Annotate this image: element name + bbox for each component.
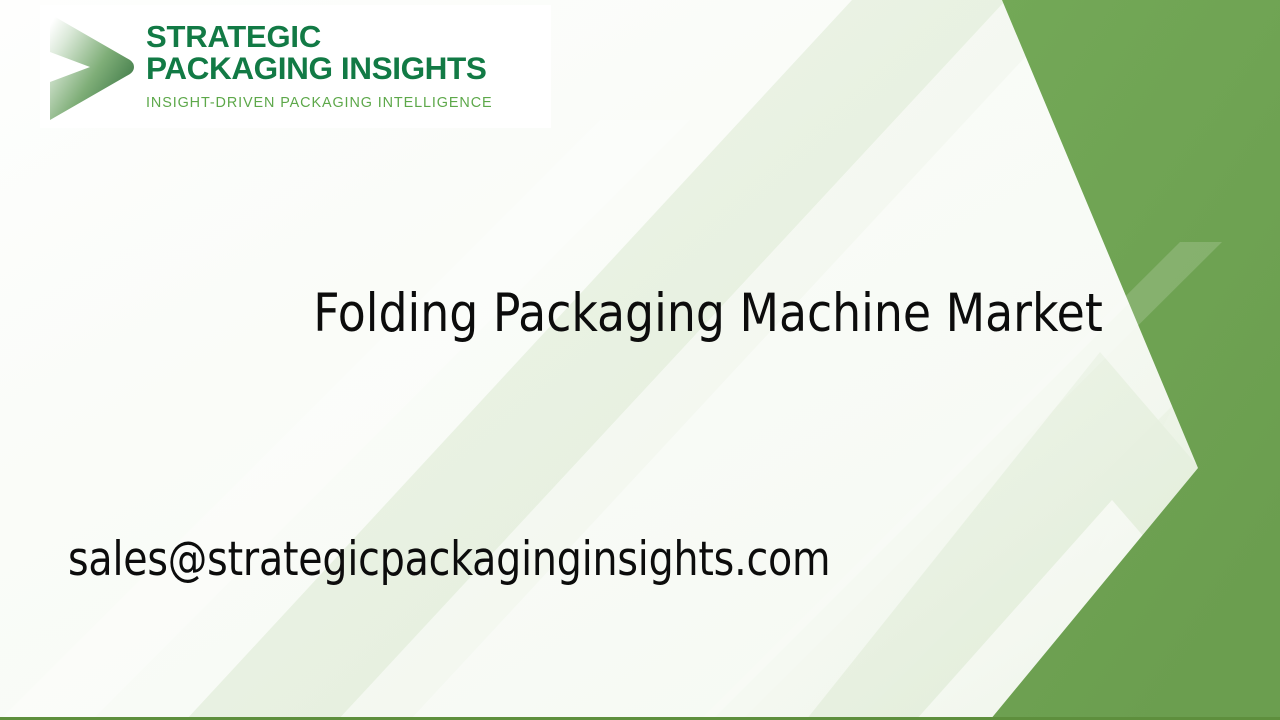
title-slide: STRATEGIC PACKAGING INSIGHTS INSIGHT-DRI… <box>0 0 1280 720</box>
logo-wordmark-line-2: PACKAGING INSIGHTS <box>146 53 547 84</box>
page-title: Folding Packaging Machine Market <box>301 286 1115 341</box>
logo-wordmark-line-1: STRATEGIC <box>146 22 547 52</box>
logo-tagline: INSIGHT-DRIVEN PACKAGING INTELLIGENCE <box>146 95 547 111</box>
contact-email: sales@strategicpackaginginsights.com <box>68 534 830 587</box>
company-logo: STRATEGIC PACKAGING INSIGHTS INSIGHT-DRI… <box>40 5 551 128</box>
chevron-right-icon <box>42 8 134 126</box>
